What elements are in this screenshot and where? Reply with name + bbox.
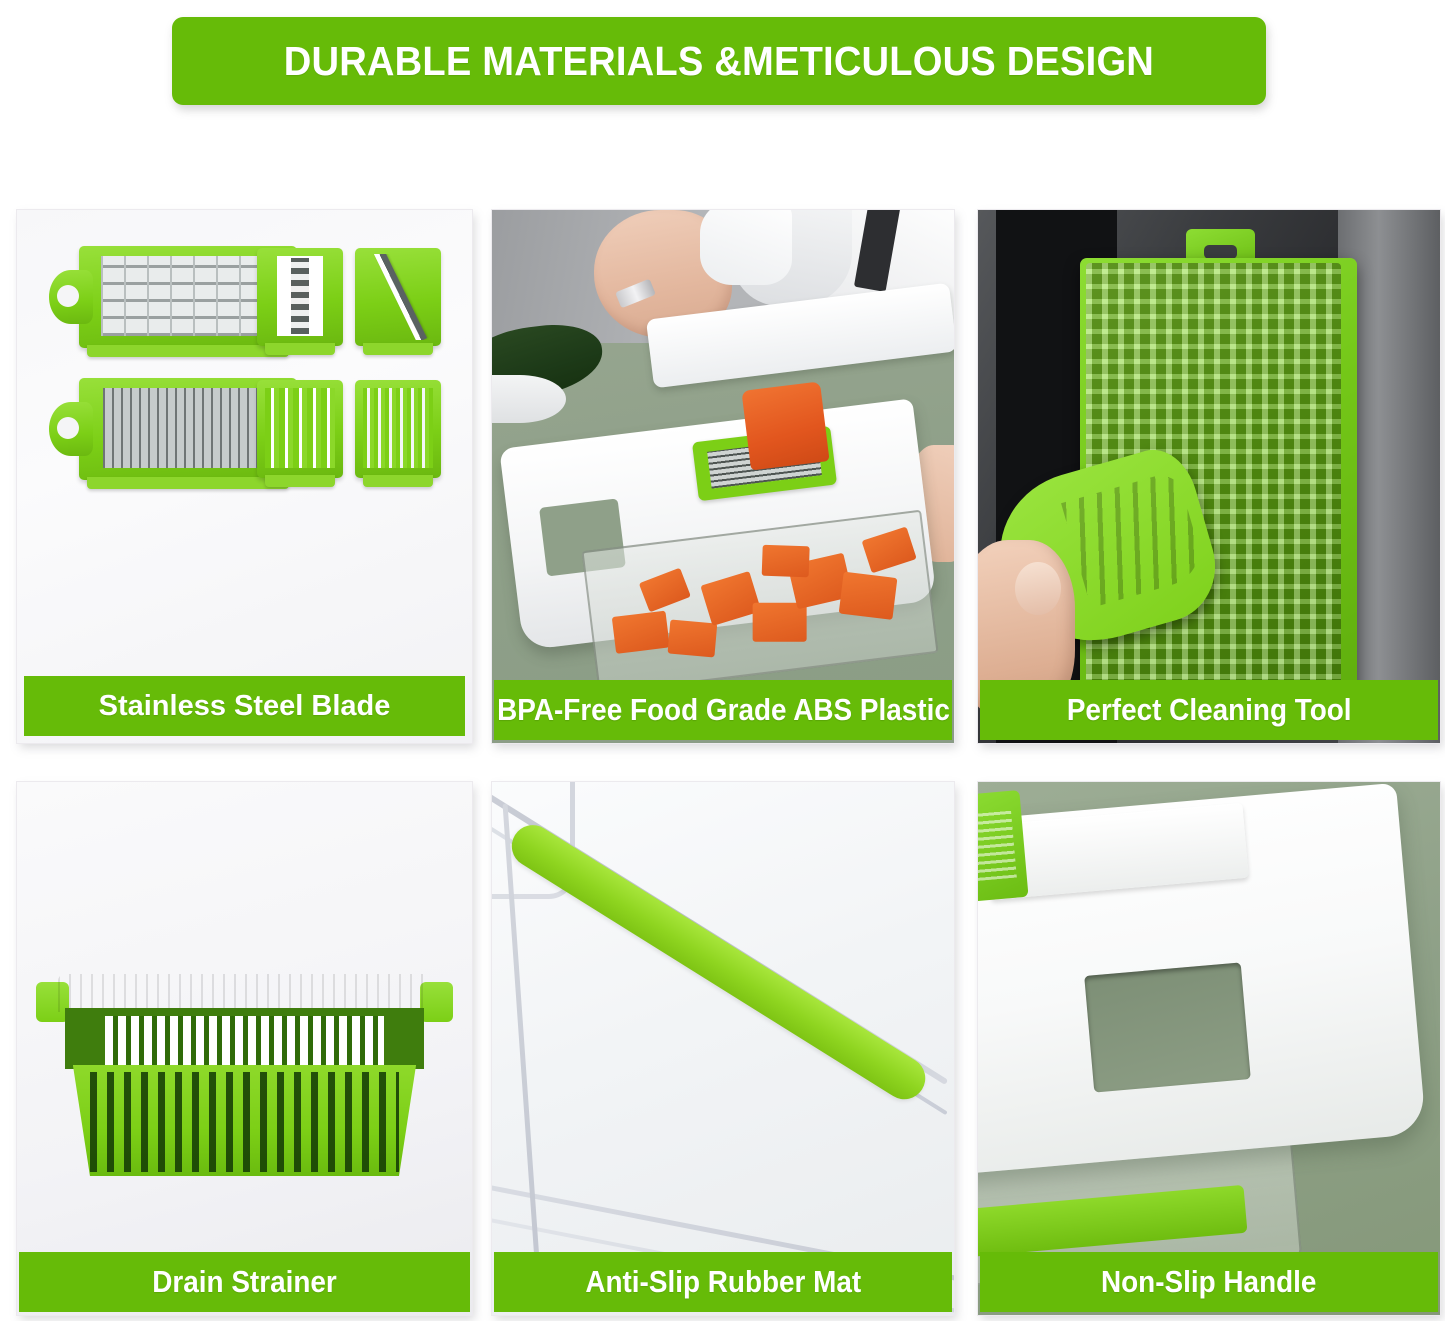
chopper-in-use-photo [492,210,954,743]
caption-label: Drain Strainer [152,1264,337,1300]
caption-label: BPA-Free Food Grade ABS Plastic [497,692,950,728]
caption-bar-stainless-steel-blade: Stainless Steel Blade [24,676,465,736]
blade-insert-julienne-coarse [257,380,343,478]
non-slip-handle-photo [978,782,1440,1315]
blade-teeth-fine-pattern [363,388,433,468]
feature-grid: Stainless Steel Blade [0,206,1445,1306]
strainer-interior [65,1008,423,1069]
drain-strainer-photo [17,782,472,1315]
caption-bar-perfect-cleaning-tool: Perfect Cleaning Tool [980,680,1438,740]
blade-zigzag-window [277,256,323,336]
caption-label: Non-Slip Handle [1101,1264,1316,1300]
caption-bar-bpa-free-abs-plastic: BPA-Free Food Grade ABS Plastic [494,680,952,740]
caption-bar-drain-strainer: Drain Strainer [19,1252,470,1312]
blade-teeth-pattern [265,388,335,468]
blade-teeth-window [265,388,335,468]
blade-base [363,343,433,355]
product-infographic: DURABLE MATERIALS &METICULOUS DESIGN [0,0,1445,1321]
blade-set-photo [17,210,472,743]
caption-label: Anti-Slip Rubber Mat [585,1264,861,1300]
strainer-rim [58,974,431,1012]
blade-base [87,477,289,489]
caption-bar-anti-slip-rubber-mat: Anti-Slip Rubber Mat [494,1252,952,1312]
feature-tile-drain-strainer: Drain Strainer [17,782,472,1315]
carrot-piece [742,381,830,470]
carrot-chunk [668,619,718,657]
carrot-chunk [612,610,670,653]
blade-tab-icon [49,402,93,456]
carrot-chunk [839,571,898,619]
blade-base [363,475,433,487]
feature-tile-anti-slip-rubber-mat: Anti-Slip Rubber Mat [492,782,954,1315]
carrot-chunk [862,526,917,573]
blade-base [87,345,289,357]
page-title: DURABLE MATERIALS &METICULOUS DESIGN [284,38,1154,85]
blade-tab-icon [49,270,93,324]
header-banner: DURABLE MATERIALS &METICULOUS DESIGN [172,17,1266,105]
carrot-chunk [761,544,809,576]
shirt-cuff [700,210,792,285]
cleaning-tool-photo [978,210,1440,743]
feature-tile-non-slip-handle: Non-Slip Handle [978,782,1440,1315]
feature-tile-bpa-free-abs-plastic: BPA-Free Food Grade ABS Plastic [492,210,954,743]
caption-label: Perfect Cleaning Tool [1067,692,1352,728]
blade-insert-zigzag [257,248,343,346]
thumb-nail [1015,562,1061,615]
feature-tile-perfect-cleaning-tool: Perfect Cleaning Tool [978,210,1440,743]
blade-base [265,343,335,355]
blade-teeth-window [363,388,433,468]
feature-tile-stainless-steel-blade: Stainless Steel Blade [17,210,472,743]
caption-bar-non-slip-handle: Non-Slip Handle [980,1252,1438,1312]
caption-label: Stainless Steel Blade [99,690,391,723]
carrot-chunk [639,567,691,611]
blade-grid-fine-pattern [103,388,283,468]
strainer-basket [58,974,431,1177]
blade-insert-diagonal-slicer [355,248,441,346]
rubber-mat-photo [492,782,954,1315]
blade-base [265,475,335,487]
blade-grid-fine [103,388,283,468]
blade-zigzag-pattern [277,256,323,336]
blade-insert-julienne-fine [355,380,441,478]
strainer-slotted-body [73,1065,416,1176]
handle-grip-cutout [1084,962,1251,1092]
blade-diagonal-edge [365,254,431,340]
